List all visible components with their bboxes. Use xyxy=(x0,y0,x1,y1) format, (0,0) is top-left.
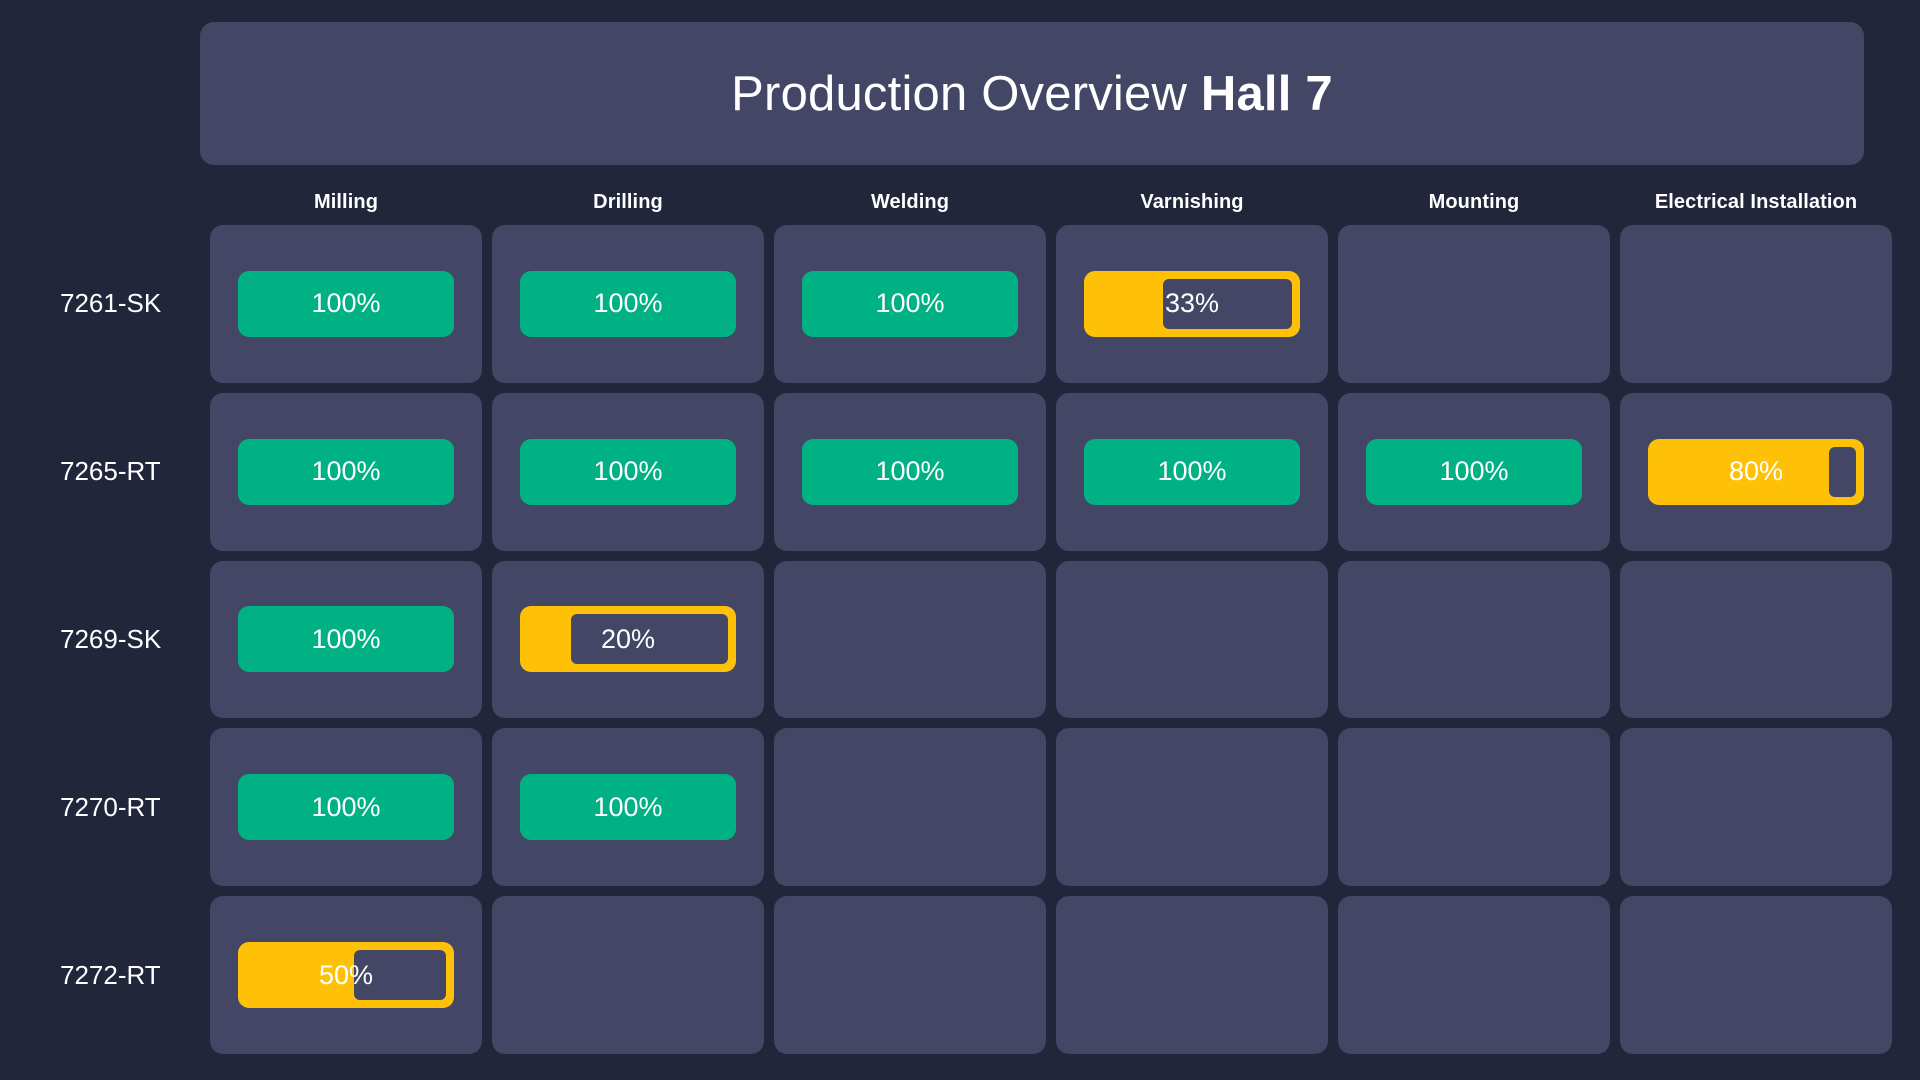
progress-bar-remainder xyxy=(1829,447,1856,497)
order-row-label: 7270-RT xyxy=(28,728,200,886)
progress-bar-value: 20% xyxy=(601,626,655,653)
progress-bar-value: 100% xyxy=(593,458,662,485)
column-header-milling: Milling xyxy=(210,191,482,214)
progress-bar: 100% xyxy=(1084,439,1300,505)
progress-bar: 100% xyxy=(238,774,454,840)
order-row-label: 7272-RT xyxy=(28,896,200,1054)
column-header-electrical-installation: Electrical Installation xyxy=(1620,191,1892,214)
page-title-prefix: Production Overview xyxy=(731,67,1201,121)
progress-cell[interactable] xyxy=(774,728,1046,886)
order-row-label: 7269-SK xyxy=(28,561,200,719)
progress-bar: 100% xyxy=(238,439,454,505)
progress-bar: 100% xyxy=(1366,439,1582,505)
progress-cell[interactable]: 100% xyxy=(210,561,482,719)
progress-bar-value: 100% xyxy=(593,290,662,317)
progress-bar-value: 100% xyxy=(1439,458,1508,485)
title-bar: Production Overview Hall 7 xyxy=(200,22,1864,165)
order-row-label: 7261-SK xyxy=(28,225,200,383)
progress-cell[interactable]: 100% xyxy=(210,225,482,383)
progress-cell[interactable]: 100% xyxy=(492,728,764,886)
progress-cell[interactable] xyxy=(1338,896,1610,1054)
progress-bar-value: 100% xyxy=(311,794,380,821)
progress-bar-value: 100% xyxy=(311,626,380,653)
progress-bar: 100% xyxy=(520,774,736,840)
status-grid: Milling Drilling Welding Varnishing Moun… xyxy=(28,179,1892,1080)
progress-bar-value: 100% xyxy=(311,458,380,485)
progress-cell[interactable] xyxy=(1620,728,1892,886)
order-row: 7270-RT100%100% xyxy=(28,728,1892,886)
progress-cell[interactable] xyxy=(774,896,1046,1054)
progress-cell[interactable] xyxy=(1056,896,1328,1054)
progress-bar-value: 100% xyxy=(593,794,662,821)
progress-bar-value: 100% xyxy=(875,290,944,317)
progress-cell[interactable]: 100% xyxy=(774,225,1046,383)
order-row: 7265-RT100%100%100%100%100%80% xyxy=(28,393,1892,551)
progress-cell[interactable]: 100% xyxy=(492,225,764,383)
progress-cell[interactable] xyxy=(1338,728,1610,886)
progress-cell[interactable] xyxy=(1056,561,1328,719)
progress-cell[interactable] xyxy=(492,896,764,1054)
progress-cell[interactable] xyxy=(1338,225,1610,383)
progress-bar: 80% xyxy=(1648,439,1864,505)
progress-cell[interactable]: 100% xyxy=(774,393,1046,551)
progress-bar: 33% xyxy=(1084,271,1300,337)
progress-cell[interactable] xyxy=(1338,561,1610,719)
progress-bar: 100% xyxy=(802,271,1018,337)
progress-bar: 100% xyxy=(802,439,1018,505)
column-header-mounting: Mounting xyxy=(1338,191,1610,214)
progress-cell[interactable]: 100% xyxy=(492,393,764,551)
progress-cell[interactable]: 100% xyxy=(210,393,482,551)
order-rows: 7261-SK100%100%100%33%7265-RT100%100%100… xyxy=(28,225,1892,1080)
progress-cell[interactable]: 100% xyxy=(1338,393,1610,551)
column-header-welding: Welding xyxy=(774,191,1046,214)
progress-bar: 50% xyxy=(238,942,454,1008)
progress-cell[interactable]: 100% xyxy=(1056,393,1328,551)
order-row-label: 7265-RT xyxy=(28,393,200,551)
progress-bar-value: 33% xyxy=(1165,290,1219,317)
production-overview-board: Production Overview Hall 7 Milling Drill… xyxy=(0,0,1920,1080)
progress-cell[interactable] xyxy=(774,561,1046,719)
progress-bar-value: 100% xyxy=(875,458,944,485)
column-header-varnishing: Varnishing xyxy=(1056,191,1328,214)
page-title-hall: Hall 7 xyxy=(1201,67,1333,121)
order-row: 7272-RT50% xyxy=(28,896,1892,1054)
progress-cell[interactable] xyxy=(1620,896,1892,1054)
column-header-drilling: Drilling xyxy=(492,191,764,214)
order-row: 7269-SK100%20% xyxy=(28,561,1892,719)
progress-cell[interactable] xyxy=(1620,225,1892,383)
progress-bar-value: 100% xyxy=(1157,458,1226,485)
progress-cell[interactable]: 80% xyxy=(1620,393,1892,551)
progress-bar-value: 50% xyxy=(319,962,373,989)
page-title: Production Overview Hall 7 xyxy=(731,66,1333,122)
progress-cell[interactable]: 33% xyxy=(1056,225,1328,383)
column-header-row: Milling Drilling Welding Varnishing Moun… xyxy=(28,179,1892,225)
progress-bar-value: 100% xyxy=(311,290,380,317)
progress-cell[interactable] xyxy=(1056,728,1328,886)
progress-cell[interactable] xyxy=(1620,561,1892,719)
order-row: 7261-SK100%100%100%33% xyxy=(28,225,1892,383)
progress-bar: 100% xyxy=(238,271,454,337)
progress-bar: 100% xyxy=(520,271,736,337)
progress-cell[interactable]: 20% xyxy=(492,561,764,719)
progress-cell[interactable]: 100% xyxy=(210,728,482,886)
progress-cell[interactable]: 50% xyxy=(210,896,482,1054)
progress-bar-value: 80% xyxy=(1729,458,1783,485)
progress-bar: 20% xyxy=(520,606,736,672)
progress-bar: 100% xyxy=(520,439,736,505)
progress-bar: 100% xyxy=(238,606,454,672)
